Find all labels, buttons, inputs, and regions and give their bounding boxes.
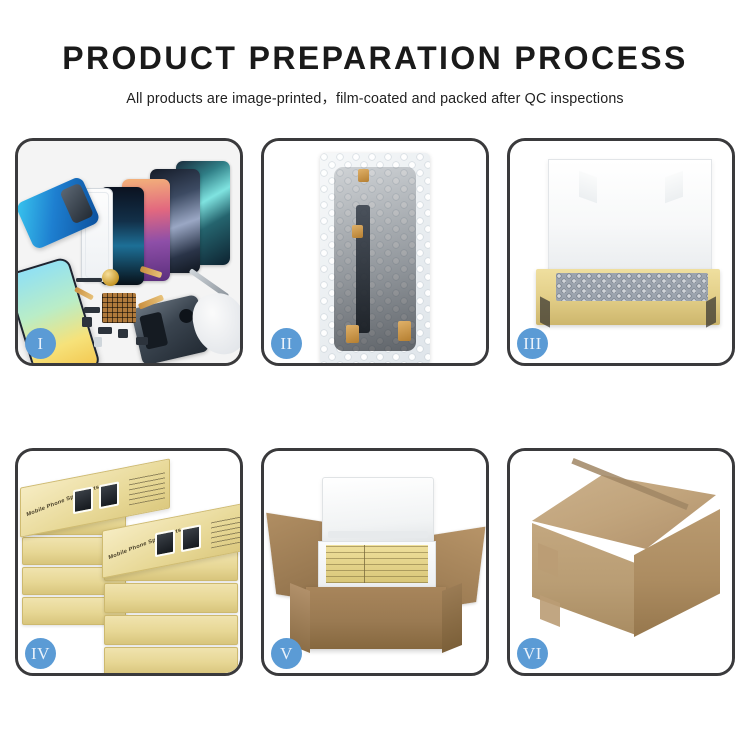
foam-lid-flap-right [665, 171, 683, 204]
page-subtitle: All products are image-printed，film-coat… [0, 87, 750, 108]
connector-array [102, 293, 136, 323]
yellow-boxes-inside [326, 545, 428, 583]
tape-tab-4 [398, 321, 411, 341]
foam-lid-flap-left [579, 171, 597, 204]
step-image-foam-carton [264, 451, 486, 673]
retail-box-front-4 [104, 647, 238, 673]
chip-strip-3 [118, 329, 128, 338]
bubble-wrap-bag [320, 153, 430, 363]
step-card-3[interactable]: III [507, 138, 735, 366]
step-image-boxed-stack: Mobile Phone Spare Parts Mobile Phone Sp… [18, 451, 240, 673]
step-card-6[interactable]: VI [507, 448, 735, 676]
step-badge-3: III [517, 328, 548, 359]
bubble-wrapped-items [556, 273, 708, 301]
lid-window-4 [181, 524, 201, 552]
gold-component [102, 269, 119, 286]
chip-strip-6 [136, 337, 148, 345]
product-preparation-infographic: PRODUCT PREPARATION PROCESS All products… [0, 0, 750, 750]
step-image-sealed-carton [510, 451, 732, 673]
kraft-tray [536, 269, 720, 325]
tape-tab-2 [352, 225, 363, 238]
lid-window-1 [73, 486, 93, 514]
chip-strip-2 [98, 327, 112, 334]
step-image-inner-box [510, 141, 732, 363]
tape-tab-1 [358, 169, 369, 182]
carton-front-panel [306, 587, 446, 649]
chip-strip-5 [82, 317, 92, 327]
retail-box-front-3 [104, 615, 238, 645]
step-card-2[interactable]: II [261, 138, 489, 366]
step-badge-5: V [271, 638, 302, 669]
step-badge-4: IV [25, 638, 56, 669]
step-image-products [18, 141, 240, 363]
chip-strip-1 [76, 278, 102, 282]
lid-spec-lines-second [211, 513, 240, 548]
steps-grid: I II [15, 138, 735, 676]
lid-window-2 [99, 481, 119, 509]
foam-lid [548, 159, 712, 277]
step-badge-2: II [271, 328, 302, 359]
step-card-1[interactable]: I [15, 138, 243, 366]
step-card-4[interactable]: Mobile Phone Spare Parts Mobile Phone Sp… [15, 448, 243, 676]
header: PRODUCT PREPARATION PROCESS All products… [0, 0, 750, 108]
tray-corner-left [540, 296, 550, 327]
lid-window-3 [155, 529, 175, 557]
step-card-5[interactable]: V [261, 448, 489, 676]
foam-box-lid [322, 477, 434, 543]
lid-spec-lines-top [129, 470, 165, 505]
page-title: PRODUCT PREPARATION PROCESS [0, 42, 750, 74]
chip-strip-4 [84, 307, 100, 313]
step-badge-1: I [25, 328, 56, 359]
step-badge-6: VI [517, 638, 548, 669]
tray-corner-right [706, 296, 716, 327]
chip-strip-7 [94, 337, 102, 347]
retail-box-front-2 [104, 583, 238, 613]
tape-tab-3 [346, 325, 359, 343]
step-image-bubble-wrap [264, 141, 486, 363]
